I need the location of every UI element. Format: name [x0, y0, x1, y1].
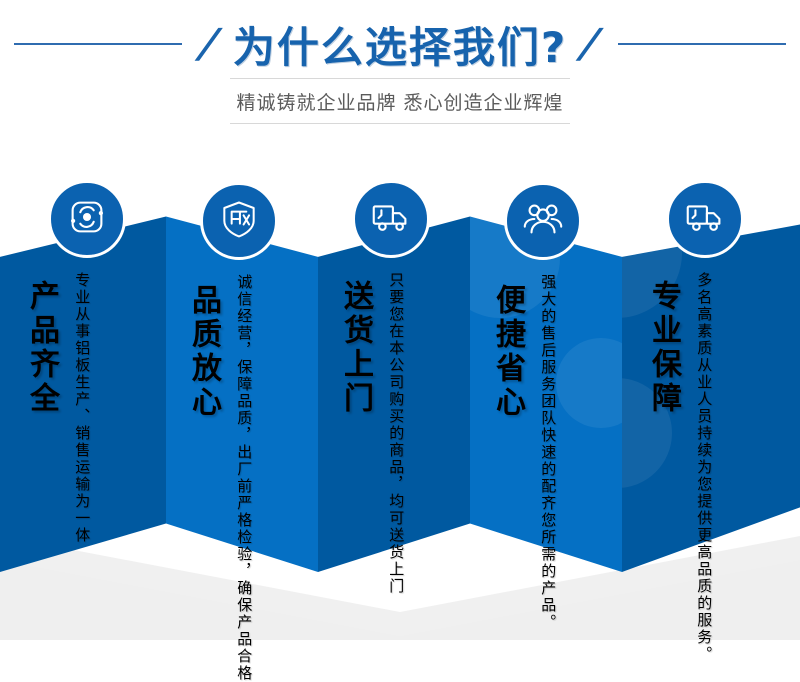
title-row: / 为什么选择我们? / [0, 16, 800, 72]
panel-title-product-complete: 产品齐全 [26, 280, 56, 416]
page-subtitle: 精诚铸就企业品牌 悉心创造企业辉煌 [230, 78, 569, 124]
icon-badge-product-complete [48, 180, 126, 258]
title-rule-right [618, 43, 786, 45]
delivery-truck-clock-icon [682, 194, 728, 244]
panel-desc-professional-guarantee: 多名高素质从业人员持续为您提供更高品质的服务。 [694, 272, 714, 572]
icon-badge-door-delivery [352, 180, 430, 258]
panel-desc-door-delivery: 只要您在本公司购买的商品，均可送货上门 [386, 272, 406, 572]
icon-badge-convenient-worryfree [504, 182, 582, 260]
panel-title-door-delivery: 送货上门 [340, 280, 370, 416]
panel-title-quality-assured: 品质放心 [188, 284, 218, 420]
panel-title-professional-guarantee: 专业保障 [648, 280, 678, 416]
delivery-truck-clock-icon [368, 194, 414, 244]
panel-desc-quality-assured: 诚信经营，保障品质，出厂前严格检验，确保产品合格 [234, 274, 254, 580]
panel-desc-product-complete: 专业从事铝板生产、销售运输为一体 [72, 272, 92, 572]
slash-left-icon: / [192, 24, 227, 64]
page-title: 为什么选择我们? [223, 14, 577, 75]
panel-title-convenient-worryfree: 便捷省心 [492, 284, 522, 420]
panel-desc-convenient-worryfree: 强大的售后服务团队快速的配齐您所需的产品。 [538, 274, 558, 574]
subtitle-row: 精诚铸就企业品牌 悉心创造企业辉煌 [0, 78, 800, 124]
icon-badge-professional-guarantee [666, 180, 744, 258]
feature-ribbon: 产品齐全 专业从事铝板生产、销售运输为一体 品质放心 诚信经营，保障品质，出厂前… [0, 168, 800, 640]
title-rule-left [14, 43, 182, 45]
slash-right-icon: / [573, 24, 608, 64]
recycle-loop-icon [64, 194, 110, 244]
people-group-icon [520, 196, 566, 246]
shield-quality-icon [217, 197, 261, 245]
icon-badge-quality-assured [200, 182, 278, 260]
page-header: / 为什么选择我们? / 精诚铸就企业品牌 悉心创造企业辉煌 [0, 0, 800, 140]
